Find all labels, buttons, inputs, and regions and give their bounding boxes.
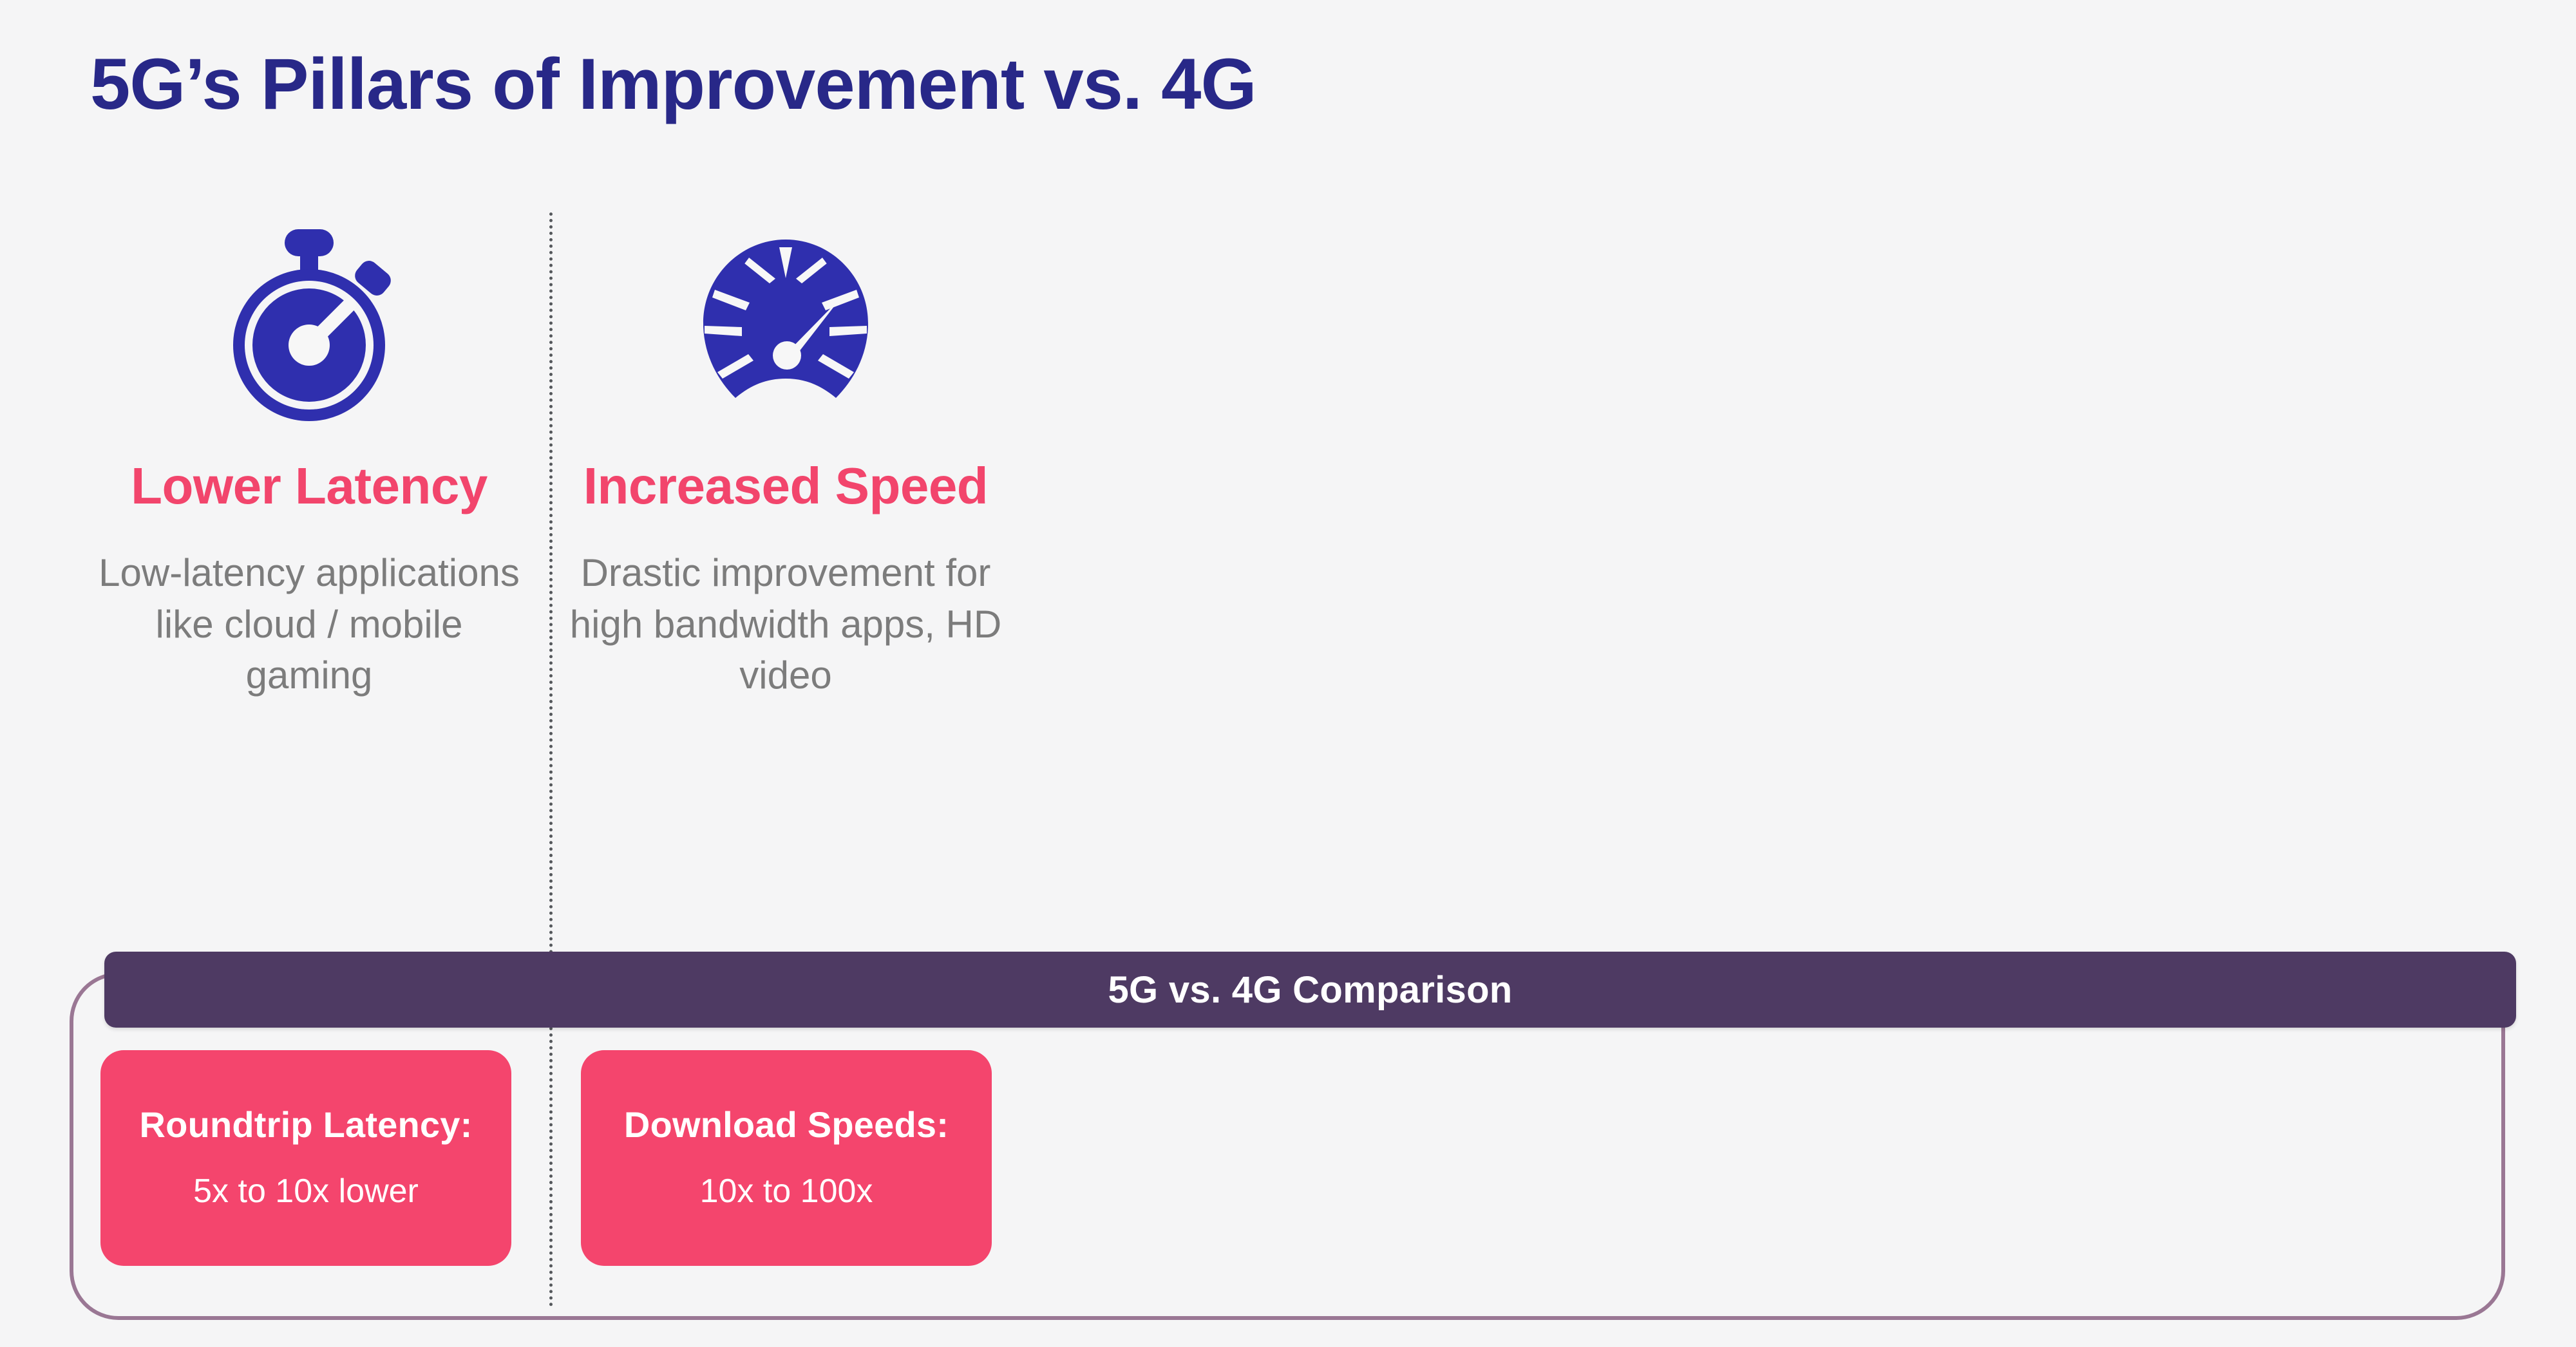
pillar-heading: Increased Speed bbox=[563, 456, 1008, 516]
comparison-panel: 5G vs. 4G Comparison Roundtrip Latency: … bbox=[70, 972, 2505, 1320]
pillar-description: Drastic improvement for high bandwidth a… bbox=[563, 547, 1008, 701]
comparison-header-bar: 5G vs. 4G Comparison bbox=[104, 952, 2516, 1028]
page-title: 5G’s Pillars of Improvement vs. 4G bbox=[90, 46, 1256, 122]
metric-card-value: 10x to 100x bbox=[700, 1171, 873, 1211]
stopwatch-icon bbox=[87, 206, 531, 444]
metric-card-title: Roundtrip Latency: bbox=[140, 1102, 473, 1147]
metric-card-value: 5x to 10x lower bbox=[193, 1171, 419, 1211]
metric-card-title: Download Speeds: bbox=[624, 1102, 949, 1147]
metric-card-download-speeds[interactable]: Download Speeds: 10x to 100x bbox=[581, 1050, 992, 1266]
pillars-row: Lower Latency Low-latency applications l… bbox=[0, 206, 2576, 934]
comparison-cards-row: Roundtrip Latency: 5x to 10x lower Downl… bbox=[100, 1050, 2483, 1266]
pillar-lower-latency: Lower Latency Low-latency applications l… bbox=[87, 206, 531, 701]
speedometer-icon bbox=[563, 206, 1008, 444]
metric-card-roundtrip-latency[interactable]: Roundtrip Latency: 5x to 10x lower bbox=[100, 1050, 511, 1266]
pillar-heading: Lower Latency bbox=[87, 456, 531, 516]
infographic-page: 5G’s Pillars of Improvement vs. 4G bbox=[0, 0, 2576, 1347]
pillar-increased-speed: Increased Speed Drastic improvement for … bbox=[563, 206, 1008, 701]
comparison-header-label: 5G vs. 4G Comparison bbox=[1108, 968, 1512, 1012]
pillar-description: Low-latency applications like cloud / mo… bbox=[87, 547, 531, 701]
